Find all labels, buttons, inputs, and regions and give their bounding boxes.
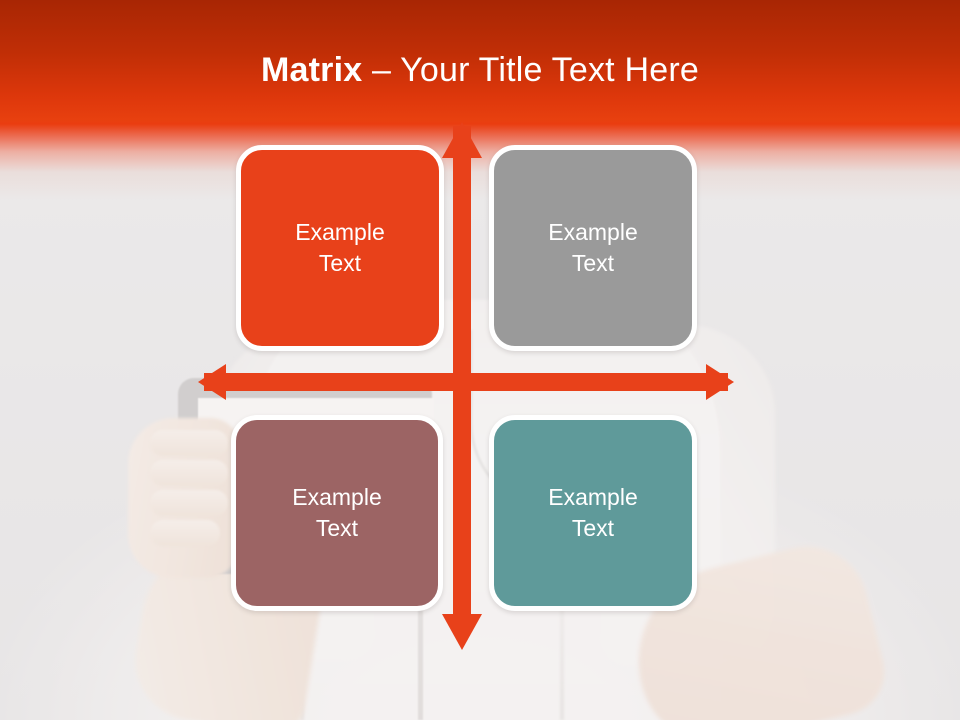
- quadrant-label-line2: Text: [316, 515, 358, 541]
- quadrant-label-line1: Example: [548, 484, 637, 510]
- quadrant-box-bottom-right[interactable]: ExampleText: [489, 415, 697, 611]
- quadrant-box-top-left[interactable]: ExampleText: [236, 145, 444, 351]
- quadrant-label-line1: Example: [548, 219, 637, 245]
- page-title-rest: – Your Title Text Here: [362, 51, 699, 89]
- quadrant-label-line1: Example: [292, 484, 381, 510]
- page-title-bold: Matrix: [261, 51, 362, 89]
- quadrant-label-line2: Text: [572, 250, 614, 276]
- quadrant-label-bottom-right: ExampleText: [538, 482, 647, 544]
- page-title: Matrix – Your Title Text Here: [0, 49, 960, 91]
- header-band: [0, 0, 960, 200]
- quadrant-box-top-right[interactable]: ExampleText: [489, 145, 697, 351]
- quadrant-label-top-right: ExampleText: [538, 217, 647, 279]
- slide-canvas: Matrix – Your Title Text Here ExampleTex…: [0, 0, 960, 720]
- quadrant-label-line2: Text: [319, 250, 361, 276]
- quadrant-label-bottom-left: ExampleText: [282, 482, 391, 544]
- quadrant-label-line2: Text: [572, 515, 614, 541]
- quadrant-label-top-left: ExampleText: [285, 217, 394, 279]
- quadrant-label-line1: Example: [295, 219, 384, 245]
- quadrant-box-bottom-left[interactable]: ExampleText: [231, 415, 443, 611]
